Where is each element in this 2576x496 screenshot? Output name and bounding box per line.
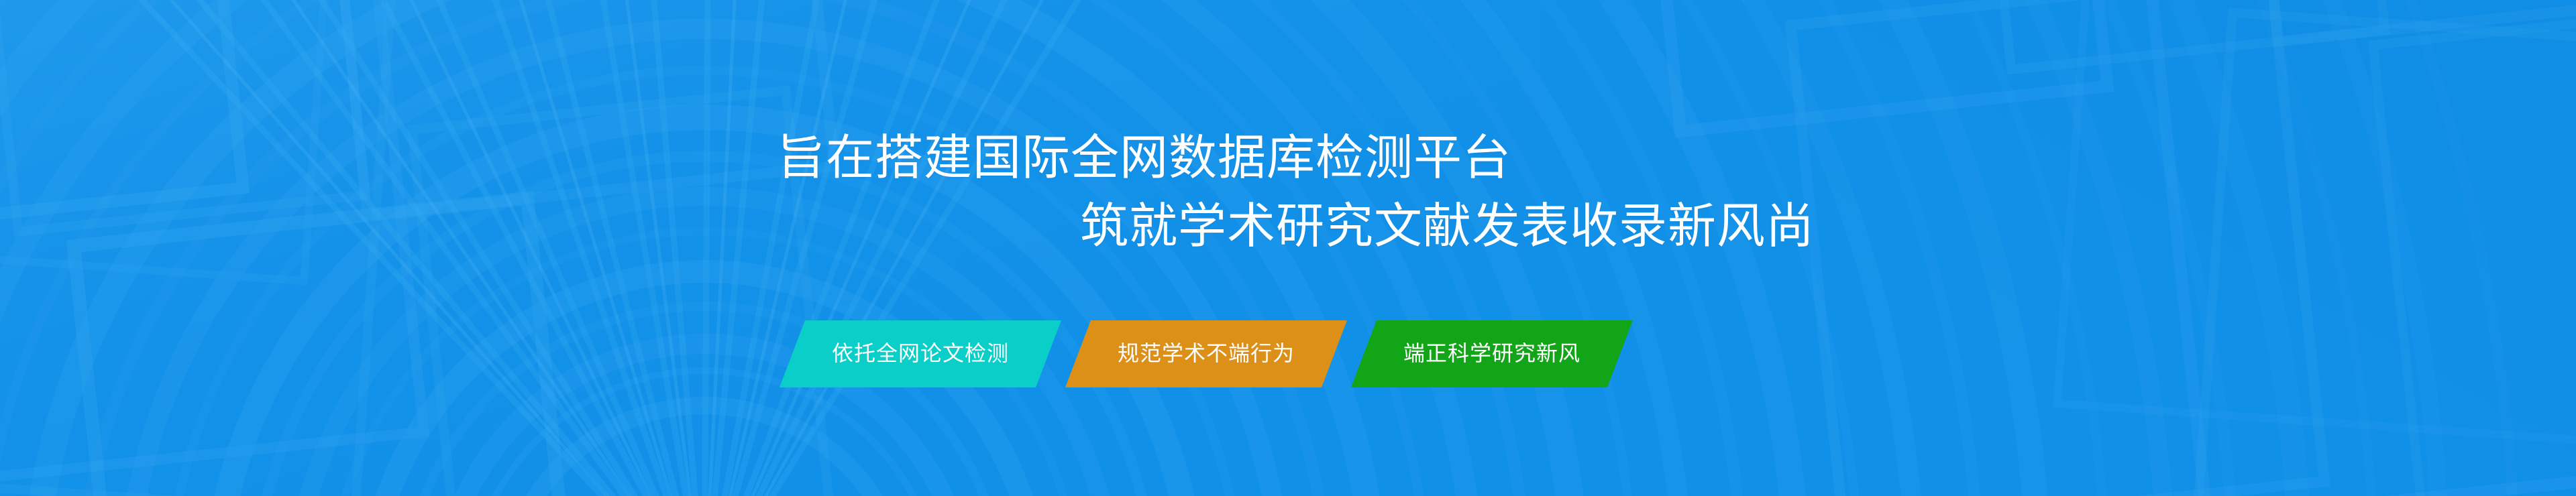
headline-line-1: 旨在搭建国际全网数据库检测平台 — [777, 134, 1511, 182]
tag-misconduct-regulation[interactable]: 规范学术不端行为 — [1065, 320, 1347, 387]
tag-paper-detection-label: 依托全网论文检测 — [832, 343, 1009, 364]
tag-misconduct-regulation-label: 规范学术不端行为 — [1118, 343, 1295, 364]
banner-root: 旨在搭建国际全网数据库检测平台 筑就学术研究文献发表收录新风尚 依托全网论文检测… — [0, 0, 2576, 496]
tag-ribbon: 依托全网论文检测 规范学术不端行为 端正科学研究新风 — [765, 320, 1811, 387]
headline-line-2: 筑就学术研究文献发表收录新风尚 — [1080, 202, 1815, 251]
tag-research-ethos[interactable]: 端正科学研究新风 — [1351, 320, 1633, 387]
tag-research-ethos-label: 端正科学研究新风 — [1403, 343, 1580, 364]
tag-paper-detection[interactable]: 依托全网论文检测 — [780, 320, 1061, 387]
